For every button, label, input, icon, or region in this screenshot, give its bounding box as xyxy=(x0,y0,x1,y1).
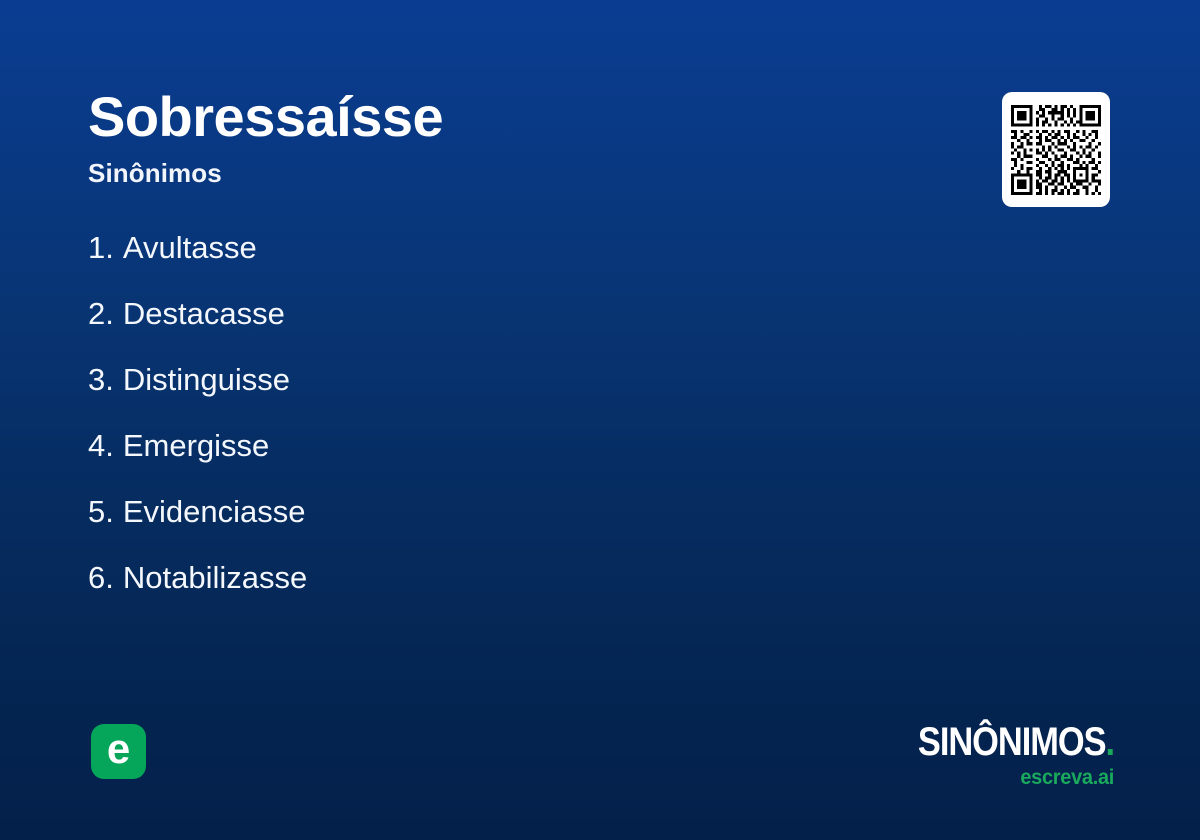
list-item: 2. Destacasse xyxy=(88,298,888,364)
list-item: 4. Emergisse xyxy=(88,430,888,496)
list-item-index: 6. xyxy=(88,562,114,593)
qr-code[interactable] xyxy=(1002,92,1110,207)
header: Sobressaísse Sinônimos xyxy=(88,88,948,187)
page-title: Sobressaísse xyxy=(88,88,948,147)
list-item-word: Evidenciasse xyxy=(123,496,306,527)
escreva-logo-letter: e xyxy=(107,728,130,770)
list-item: 1. Avultasse xyxy=(88,232,888,298)
qr-code-icon xyxy=(1011,105,1101,195)
escreva-logo-badge: e xyxy=(91,724,146,779)
list-item-index: 5. xyxy=(88,496,114,527)
brand-lockup: SINÔNIMOS. escreva.ai xyxy=(886,722,1114,788)
brand-name: SINÔNIMOS. xyxy=(918,722,1114,762)
page-subtitle: Sinônimos xyxy=(88,159,948,188)
list-item-index: 4. xyxy=(88,430,114,461)
synonym-list: 1. Avultasse 2. Destacasse 3. Distinguis… xyxy=(88,232,888,628)
list-item-word: Distinguisse xyxy=(123,364,290,395)
list-item-index: 3. xyxy=(88,364,114,395)
list-item-word: Notabilizasse xyxy=(123,562,307,593)
synonym-card: Sobressaísse Sinônimos xyxy=(0,0,1200,840)
brand-tagline: escreva.ai xyxy=(897,767,1114,788)
list-item-index: 2. xyxy=(88,298,114,329)
list-item-word: Avultasse xyxy=(123,232,257,263)
list-item-word: Emergisse xyxy=(123,430,269,461)
brand-dot: . xyxy=(1105,720,1114,764)
brand-name-text: SINÔNIMOS xyxy=(918,720,1106,764)
list-item: 6. Notabilizasse xyxy=(88,562,888,628)
list-item: 5. Evidenciasse xyxy=(88,496,888,562)
list-item-word: Destacasse xyxy=(123,298,285,329)
list-item: 3. Distinguisse xyxy=(88,364,888,430)
list-item-index: 1. xyxy=(88,232,114,263)
